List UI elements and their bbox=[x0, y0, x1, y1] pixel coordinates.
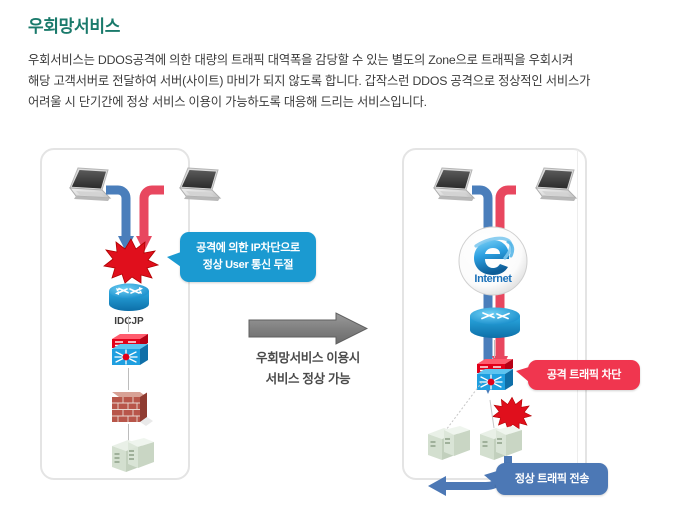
callout-attack-block: 공격에 의한 IP차단으로 정상 User 통신 두절 bbox=[180, 232, 316, 282]
internet-label: Internet bbox=[458, 273, 528, 285]
intro-line-3: 어려울 시 단기간에 정상 서비스 이용이 가능하도록 대응해 드리는 서비스입… bbox=[28, 92, 638, 113]
center-caption-line-2: 서비스 정상 가능 bbox=[228, 369, 388, 390]
left-panel-explosion-burst-icon bbox=[103, 238, 159, 284]
left-panel-server-icon bbox=[108, 436, 156, 483]
callout-normal-traffic: 정상 트래픽 전송 bbox=[496, 463, 608, 495]
callout-attack-drop-line-1: 공격 트래픽 차단 bbox=[547, 367, 621, 384]
callout-normal-traffic-line-1: 정상 트래픽 전송 bbox=[515, 471, 589, 488]
right-panel-laptop-right-icon bbox=[524, 166, 578, 211]
callout-attack-drop: 공격 트래픽 차단 bbox=[528, 360, 640, 390]
right-panel-router-icon bbox=[467, 306, 523, 347]
left-panel-firewall-brick-icon bbox=[106, 386, 154, 433]
left-panel-router-label: IDCJP bbox=[96, 316, 162, 327]
center-caption: 우회망서비스 이용시 서비스 정상 가능 bbox=[228, 348, 388, 390]
intro-line-2: 해당 고객서버로 전달하여 서버(사이트) 마비가 되지 않도록 합니다. 갑작… bbox=[28, 71, 638, 92]
center-caption-line-1: 우회망서비스 이용시 bbox=[228, 348, 388, 369]
internet-explorer-icon: Internet bbox=[458, 226, 528, 296]
left-panel-connector-router-switch bbox=[128, 316, 129, 332]
callout-attack-block-line-1: 공격에 의한 IP차단으로 bbox=[196, 240, 300, 257]
page-title: 우회망서비스 bbox=[28, 12, 120, 37]
right-arrow-icon bbox=[248, 312, 368, 346]
left-panel-laptop-right-icon bbox=[168, 166, 222, 211]
callout-attack-block-line-2: 정상 User 통신 두절 bbox=[196, 257, 300, 274]
left-panel-switch-icon bbox=[108, 331, 152, 376]
intro-line-1: 우회서비스는 DDOS공격에 의한 대량의 트래픽 대역폭을 감당할 수 있는 … bbox=[28, 50, 638, 71]
left-panel-router-icon bbox=[106, 282, 152, 319]
intro-paragraph: 우회서비스는 DDOS공격에 의한 대량의 트래픽 대역폭을 감당할 수 있는 … bbox=[28, 50, 638, 113]
